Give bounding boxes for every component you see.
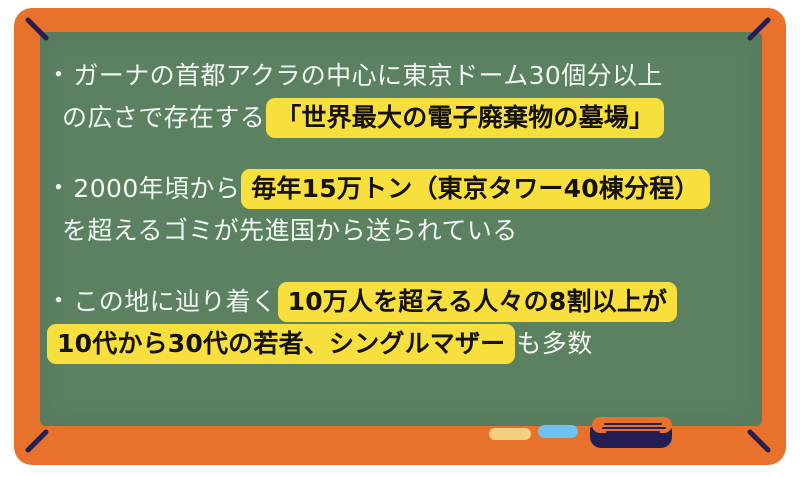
chalk-text: この地に辿り着く — [73, 281, 276, 323]
eraser-stripe — [604, 423, 662, 425]
eraser-handle — [592, 417, 672, 433]
chalk-text: ガーナの首都アクラの中心に東京ドーム30個分以上 — [73, 55, 662, 97]
bullet-item-3: ・この地に辿り着く10万人を超える人々の8割以上が 10代から30代の若者、シン… — [40, 280, 762, 364]
chalk-text: を超えるゴミが先進国から送られている — [62, 210, 518, 252]
bullet-2-line-1: ・2000年頃から毎年15万トン（東京タワー40棟分程） — [40, 167, 762, 209]
highlighted-phrase: 10代から30代の若者、シングルマザー — [47, 324, 515, 364]
eraser-stripe — [602, 427, 666, 429]
bullet-item-2: ・2000年頃から毎年15万トン（東京タワー40棟分程） を超えるゴミが先進国か… — [40, 167, 762, 251]
highlighted-phrase: 毎年15万トン（東京タワー40棟分程） — [241, 169, 709, 209]
eraser-stripe — [606, 431, 660, 433]
slide-canvas: ・ガーナの首都アクラの中心に東京ドーム30個分以上 の広さで存在する「世界最大の… — [0, 0, 800, 477]
bullet-2-line-2: を超えるゴミが先進国から送られている — [40, 209, 762, 251]
bullet-marker: ・ — [46, 167, 73, 209]
highlighted-phrase: 「世界最大の電子廃棄物の墓場」 — [266, 98, 664, 138]
bullet-marker: ・ — [46, 54, 73, 96]
blackboard-eraser — [590, 415, 672, 447]
chalk-stick-blue — [538, 425, 578, 438]
highlighted-phrase: 10万人を超える人々の8割以上が — [278, 282, 678, 322]
bullet-marker: ・ — [46, 280, 73, 322]
bullet-item-1: ・ガーナの首都アクラの中心に東京ドーム30個分以上 の広さで存在する「世界最大の… — [40, 54, 762, 138]
chalkboard-text-content: ・ガーナの首都アクラの中心に東京ドーム30個分以上 の広さで存在する「世界最大の… — [40, 32, 762, 426]
bullet-3-line-2: 10代から30代の若者、シングルマザーも多数 — [40, 322, 762, 364]
bullet-1-line-2: の広さで存在する「世界最大の電子廃棄物の墓場」 — [40, 96, 762, 138]
chalk-stick-yellow — [489, 428, 531, 440]
chalk-text: も多数 — [516, 323, 592, 365]
chalk-text: の広さで存在する — [62, 97, 265, 139]
bullet-3-line-1: ・この地に辿り着く10万人を超える人々の8割以上が — [40, 280, 762, 322]
bullet-1-line-1: ・ガーナの首都アクラの中心に東京ドーム30個分以上 — [40, 54, 762, 96]
chalk-text: 2000年頃から — [73, 168, 240, 210]
